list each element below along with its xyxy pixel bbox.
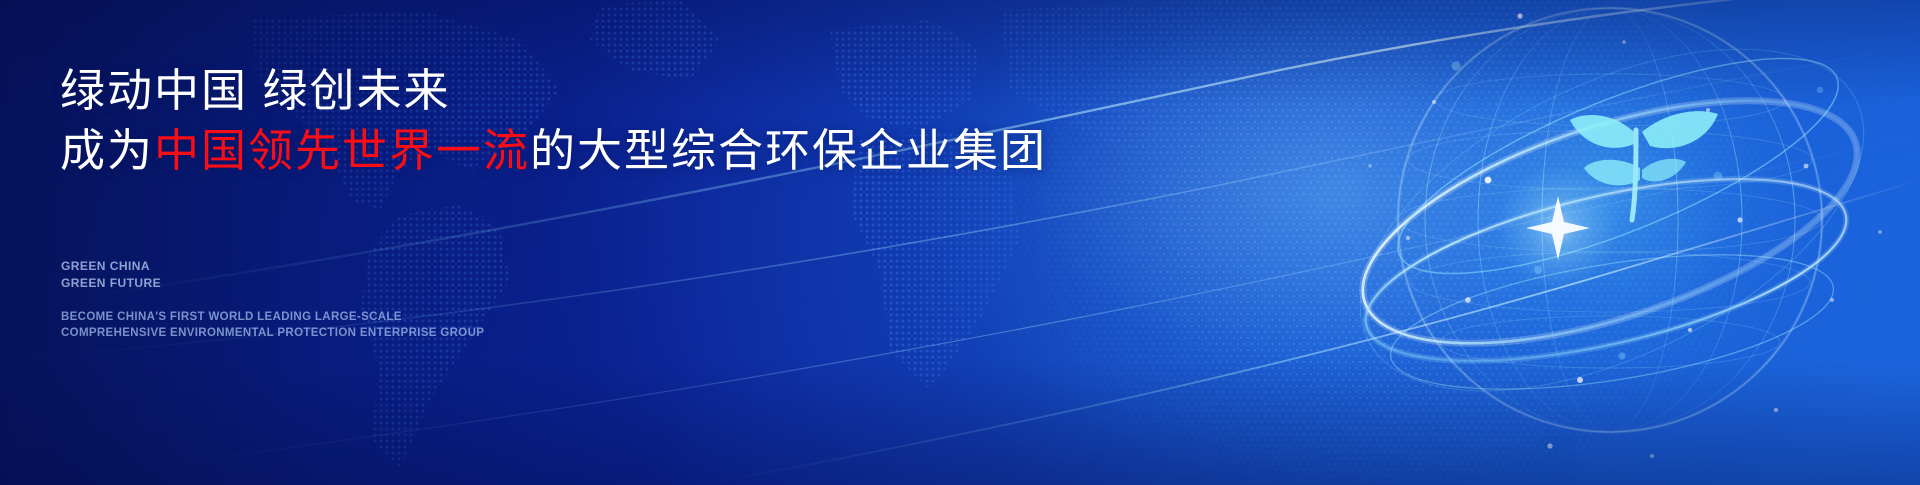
- sprout-icon: [1570, 111, 1718, 220]
- headline-accent: 中国领先世界一流: [154, 125, 530, 176]
- star-burst-icon: [1496, 166, 1620, 290]
- subline-line-1: BECOME CHINA'S FIRST WORLD LEADING LARGE…: [61, 309, 484, 325]
- subline-english: BECOME CHINA'S FIRST WORLD LEADING LARGE…: [61, 309, 484, 342]
- headline-suffix: 的大型综合环保企业集团: [530, 125, 1047, 176]
- tagline-line-2: GREEN FUTURE: [61, 275, 161, 292]
- tagline-english: GREEN CHINA GREEN FUTURE: [61, 258, 161, 292]
- hex-dot-matrix: [980, 0, 1920, 485]
- headline-prefix: 成为: [60, 125, 154, 176]
- headline-block: 绿动中国 绿创未来 成为中国领先世界一流的大型综合环保企业集团: [60, 62, 1060, 179]
- wireframe-globe-graphic: [1220, 0, 1920, 485]
- hero-banner: 绿动中国 绿创未来 成为中国领先世界一流的大型综合环保企业集团 GREEN CH…: [0, 0, 1920, 485]
- subline-line-2: COMPREHENSIVE ENVIRONMENTAL PROTECTION E…: [61, 325, 484, 341]
- tagline-line-1: GREEN CHINA: [61, 258, 161, 275]
- headline-line-1: 绿动中国 绿创未来: [60, 62, 1060, 120]
- headline-line-2: 成为中国领先世界一流的大型综合环保企业集团: [60, 122, 1060, 180]
